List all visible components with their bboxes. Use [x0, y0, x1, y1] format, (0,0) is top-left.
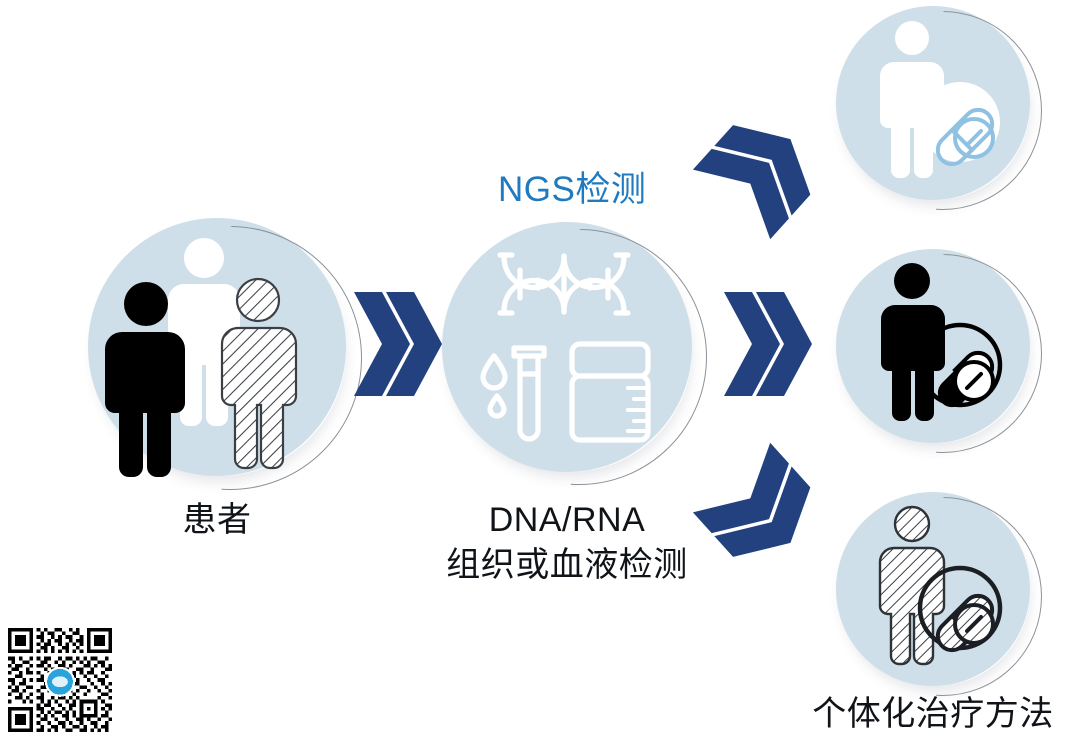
diagram-canvas: 患者	[0, 0, 1080, 742]
specimen-jar-icon	[572, 344, 648, 440]
ngs-label: NGS检测	[498, 161, 646, 212]
outcome-white-icons	[836, 6, 1030, 200]
patient-caption: 患者	[88, 500, 346, 541]
chevron-arrow-up-right-icon	[689, 105, 830, 244]
chevron-arrow-down-right	[689, 439, 830, 578]
outcome-hatched-icons	[836, 492, 1030, 686]
assay-icons-group	[442, 222, 692, 472]
test-tube-icon	[514, 348, 544, 439]
chevron-arrow-right-icon	[352, 288, 438, 400]
chevron-arrow-right-2	[722, 288, 808, 400]
ngs-assay-circle	[442, 222, 692, 472]
treatment-outcome-white-circle	[836, 6, 1030, 200]
qr-center-logo	[45, 667, 75, 697]
chevron-arrow-right-icon	[722, 288, 808, 400]
chevron-arrow-down-right-icon	[689, 439, 830, 578]
outcome-black-icons	[836, 249, 1030, 443]
personalized-treatment-caption: 个体化治疗方法	[793, 694, 1073, 735]
assay-caption-line2: 组织或血液检测	[427, 545, 707, 586]
blood-drop-icon	[483, 356, 505, 416]
qr-code[interactable]	[8, 628, 112, 732]
patient-figures-group	[88, 218, 346, 476]
dna-helix-icon	[500, 255, 628, 313]
chevron-arrow-right	[352, 288, 438, 400]
treatment-outcome-black-circle	[836, 249, 1030, 443]
treatment-outcome-hatched-circle	[836, 492, 1030, 686]
chevron-arrow-up-right	[689, 105, 830, 244]
assay-caption-line1: DNA/RNA	[437, 500, 697, 541]
patient-group-circle	[88, 218, 346, 476]
qr-code-icon[interactable]	[8, 628, 112, 732]
